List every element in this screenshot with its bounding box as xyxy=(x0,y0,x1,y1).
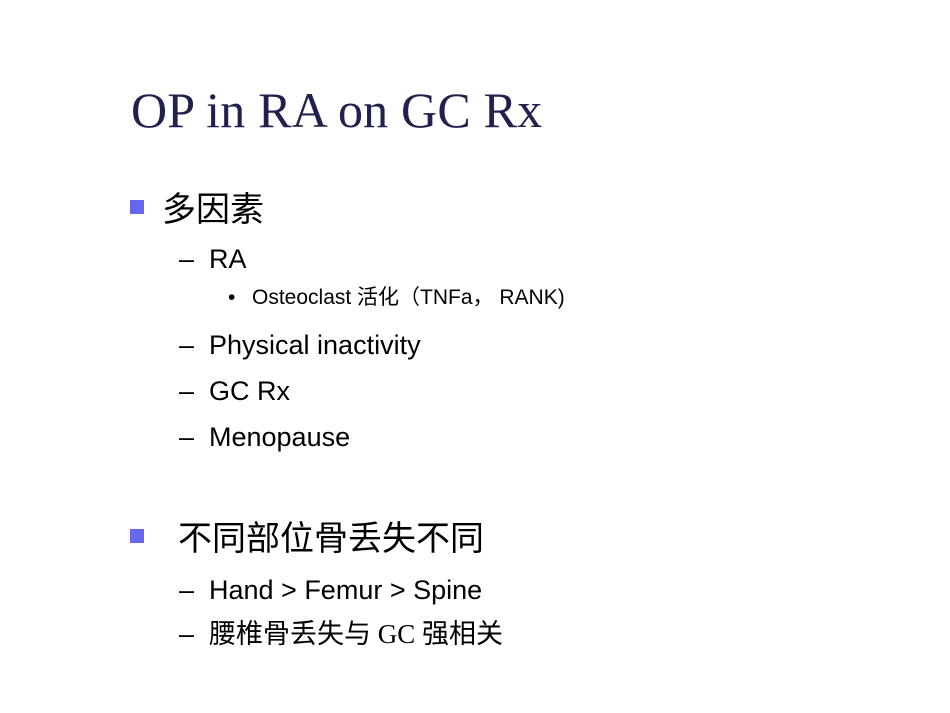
en-dash-bullet-icon: – xyxy=(179,329,209,361)
bullet-level3-osteoclast: •Osteoclast 活化（TNFa， RANK) xyxy=(228,285,565,311)
bullet-level1-bone-loss-sites: 不同部位骨丢失不同 xyxy=(130,520,484,560)
bullet-level2-label: GC Rx xyxy=(209,376,290,406)
en-dash-bullet-icon: – xyxy=(179,574,209,606)
bullet-level2-label: Hand > Femur > Spine xyxy=(209,575,482,605)
square-bullet-icon xyxy=(130,529,144,543)
bullet-level2-label: 腰椎骨丢失与 GC 强相关 xyxy=(209,619,503,649)
bullet-level2-menopause: –Menopause xyxy=(179,421,350,453)
bullet-level2-lumbar-gc: –腰椎骨丢失与 GC 强相关 xyxy=(179,618,503,650)
bullet-level2-site-ranking: –Hand > Femur > Spine xyxy=(179,574,482,606)
slide-title-text: OP in RA on GC Rx xyxy=(131,82,542,138)
bullet-level1-multifactorial: 多因素 xyxy=(130,191,264,231)
en-dash-bullet-icon: – xyxy=(179,618,209,650)
square-bullet-icon xyxy=(130,200,144,214)
bullet-level3-label: Osteoclast 活化（TNFa， RANK) xyxy=(252,286,565,309)
en-dash-bullet-icon: – xyxy=(179,243,209,275)
bullet-level2-ra: –RA xyxy=(179,243,247,275)
bullet-level2-physical-inactivity: –Physical inactivity xyxy=(179,329,421,361)
en-dash-bullet-icon: – xyxy=(179,375,209,407)
bullet-level1-label: 多因素 xyxy=(162,191,264,231)
bullet-level2-label: Menopause xyxy=(209,422,350,452)
en-dash-bullet-icon: – xyxy=(179,421,209,453)
bullet-level2-label: RA xyxy=(209,244,247,274)
round-bullet-icon: • xyxy=(228,285,252,311)
bullet-level2-gc-rx: –GC Rx xyxy=(179,375,290,407)
bullet-level1-label: 不同部位骨丢失不同 xyxy=(178,520,484,560)
bullet-level2-label: Physical inactivity xyxy=(209,330,421,360)
slide-title: OP in RA on GC Rx xyxy=(131,81,542,139)
presentation-slide: OP in RA on GC Rx 多因素 –RA •Osteoclast 活化… xyxy=(0,0,950,713)
